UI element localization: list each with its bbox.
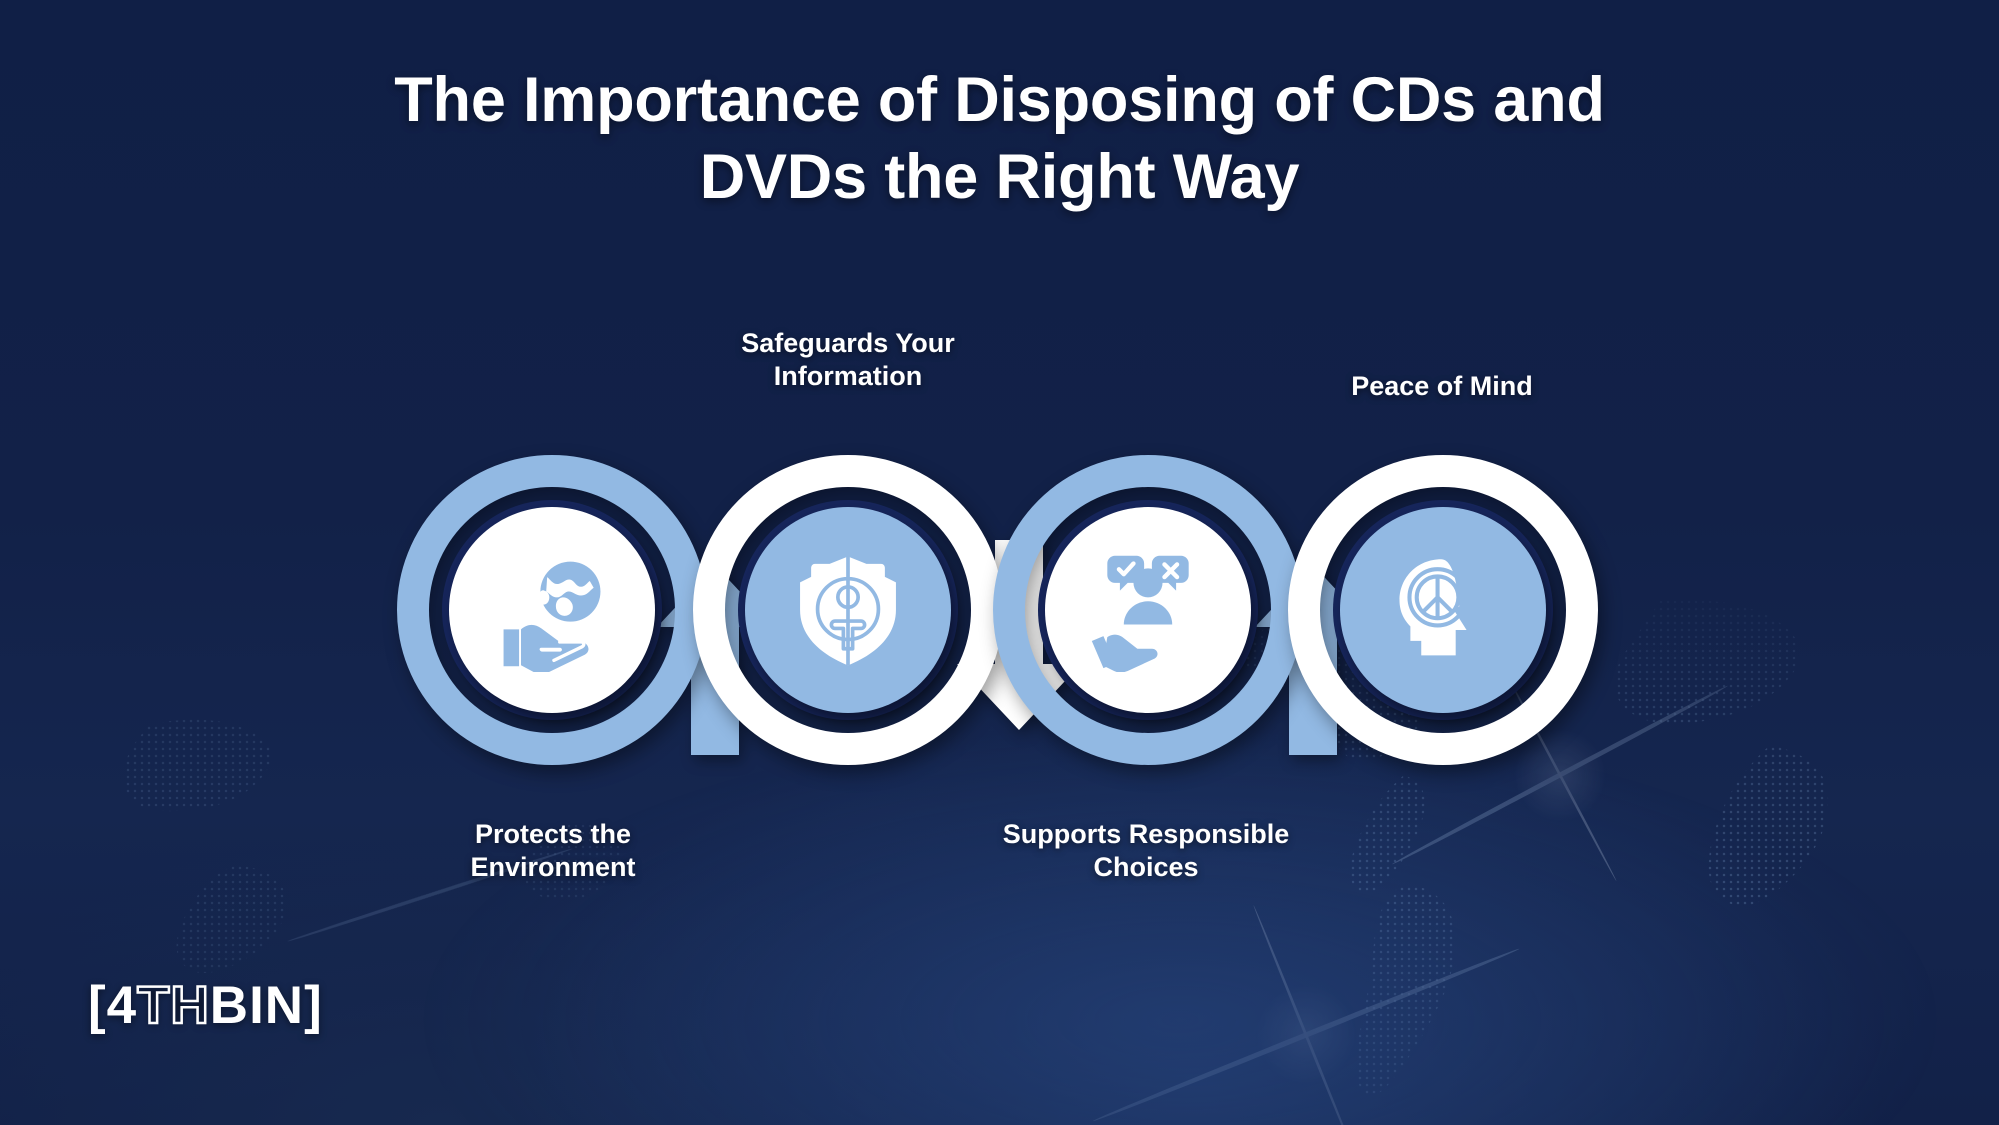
logo-text-th: TH bbox=[137, 975, 210, 1036]
logo-text-4: 4 bbox=[107, 975, 137, 1036]
step-4-caption: Peace of Mind bbox=[1272, 370, 1612, 403]
head-peace-sign-icon bbox=[1385, 552, 1501, 668]
step-4-label-line-1: Peace of Mind bbox=[1272, 370, 1612, 403]
step-2-label-line-1: Safeguards Your bbox=[678, 327, 1018, 360]
step-node-4[interactable] bbox=[1288, 455, 1598, 765]
step-1-label-line-1: Protects the bbox=[383, 818, 723, 851]
process-diagram: Protects the Environment Safeguards Your… bbox=[0, 0, 1999, 1125]
step-3-caption: Supports Responsible Choices bbox=[976, 818, 1316, 884]
step-3-label-line-2: Choices bbox=[976, 851, 1316, 884]
logo-bracket-open: [ bbox=[88, 975, 107, 1036]
step-1-label-line-2: Environment bbox=[383, 851, 723, 884]
step-2-label-line-2: Information bbox=[678, 360, 1018, 393]
step-node-1[interactable] bbox=[397, 455, 707, 765]
brand-logo[interactable]: [ 4 TH BIN ] bbox=[88, 975, 323, 1036]
shield-person-icon bbox=[789, 551, 907, 669]
step-2-icon-badge bbox=[745, 507, 951, 713]
step-1-icon-badge bbox=[449, 507, 655, 713]
hand-holding-globe-icon bbox=[490, 548, 614, 672]
step-1-caption: Protects the Environment bbox=[383, 818, 723, 884]
step-2-caption: Safeguards Your Information bbox=[678, 327, 1018, 393]
step-node-3[interactable] bbox=[993, 455, 1303, 765]
step-3-label-line-1: Supports Responsible bbox=[976, 818, 1316, 851]
step-3-icon-badge bbox=[1045, 507, 1251, 713]
step-4-icon-badge bbox=[1340, 507, 1546, 713]
hand-holding-person-choices-icon bbox=[1086, 548, 1210, 672]
logo-text-bin: BIN bbox=[210, 975, 304, 1036]
logo-bracket-close: ] bbox=[304, 975, 323, 1036]
step-node-2[interactable] bbox=[693, 455, 1003, 765]
